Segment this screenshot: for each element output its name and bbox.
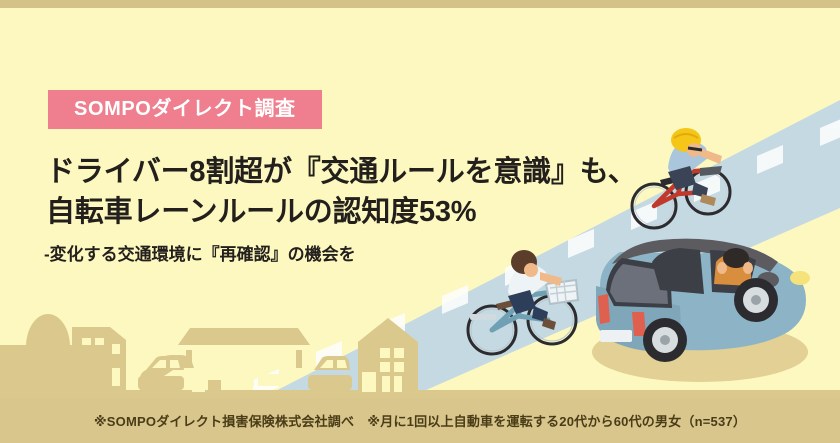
headline-highlight-text: 『交通ルールを意識』 [292, 156, 580, 188]
infographic-canvas: ※SOMPOダイレクト損害保険株式会社調べ ※月に1回以上自動車を運転する20代… [0, 0, 840, 443]
footer-note: ※SOMPOダイレクト損害保険株式会社調べ ※月に1回以上自動車を運転する20代… [0, 398, 840, 443]
headline-line-1-post: も、 [580, 156, 637, 188]
survey-badge: SOMPOダイレクト調査 [48, 90, 322, 129]
headline-line-2: 自転車レーンルールの認知度53% [46, 192, 646, 232]
headline-line-1-pre: ドライバー8割超が [46, 156, 292, 188]
subheadline: -変化する交通環境に『再確認』の機会を [44, 240, 356, 265]
skyline-silhouettes [0, 300, 840, 398]
headline-line-1: ドライバー8割超が『交通ルールを意識』も、 [46, 152, 646, 192]
top-accent-band [0, 0, 840, 8]
skyline-svg [0, 300, 840, 398]
headline: ドライバー8割超が『交通ルールを意識』も、 自転車レーンルールの認知度53% [46, 152, 646, 232]
headline-highlight: 『交通ルールを意識』 [292, 152, 580, 192]
house-silhouette-2 [358, 318, 418, 392]
